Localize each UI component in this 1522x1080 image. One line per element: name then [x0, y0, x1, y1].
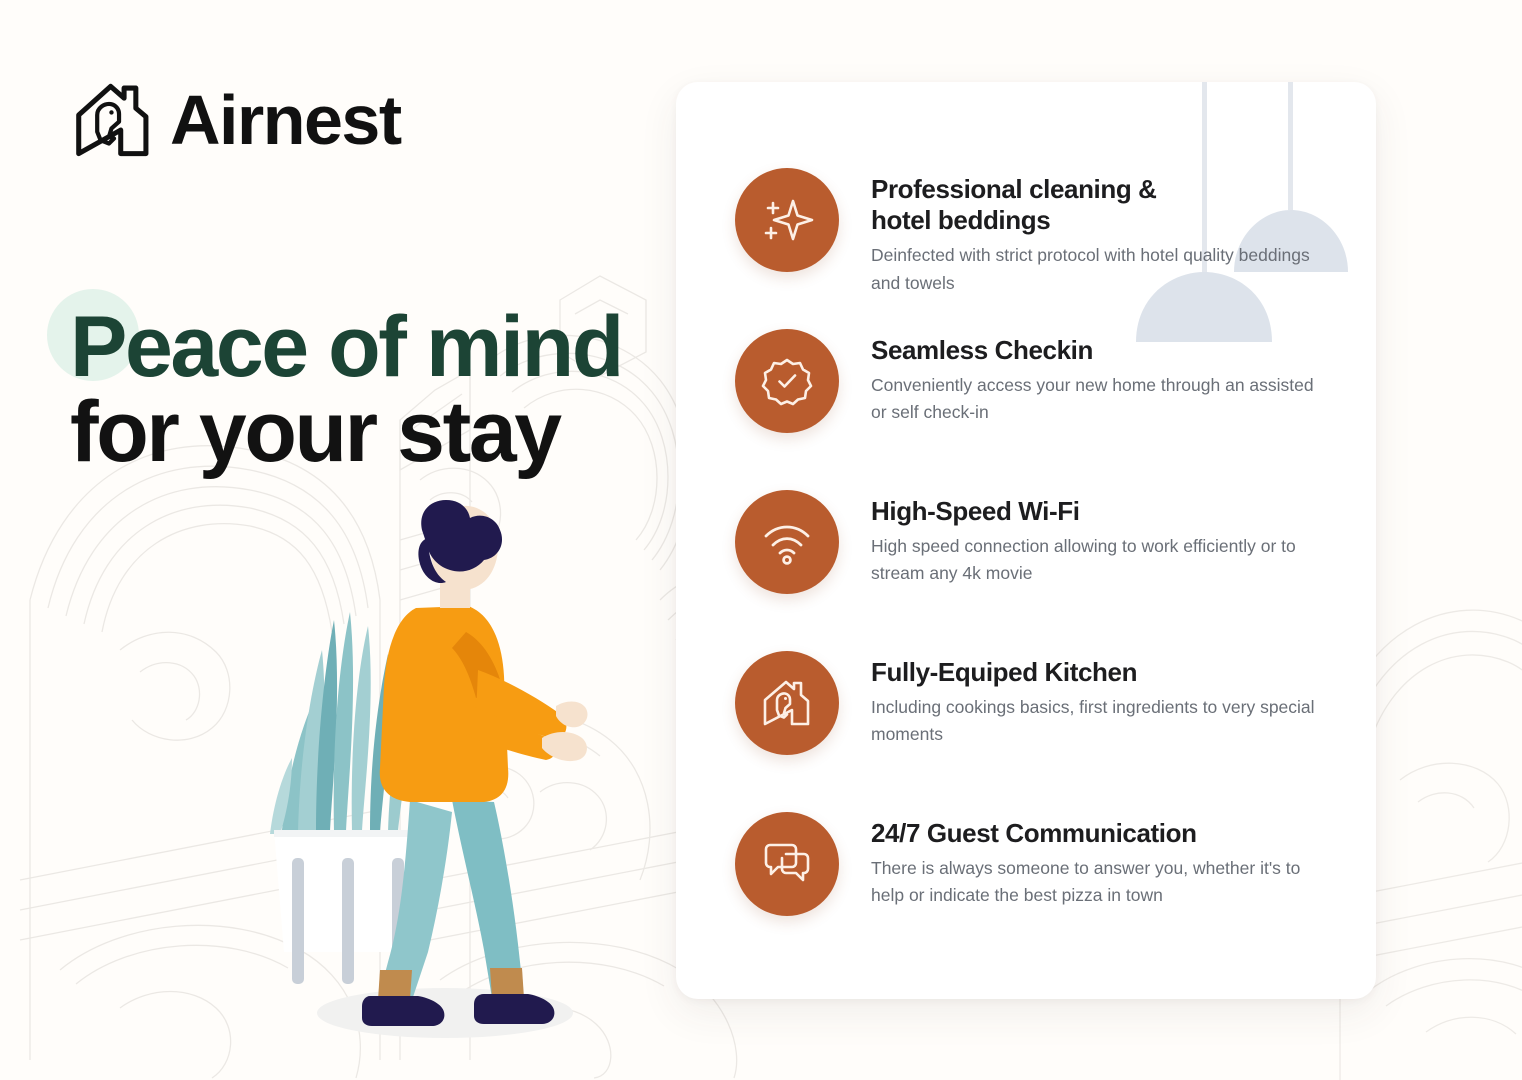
feature-title: High-Speed Wi-Fi: [871, 496, 1316, 527]
features-card: Professional cleaning & hotel beddings D…: [676, 82, 1376, 999]
sparkle-icon-badge: [735, 168, 839, 272]
feature-text: Professional cleaning & hotel beddings D…: [871, 168, 1316, 297]
house-bird-icon: [72, 78, 156, 162]
brand-logo[interactable]: Airnest: [72, 78, 401, 162]
verified-badge-icon: [760, 354, 814, 408]
feature-description: High speed connection allowing to work e…: [871, 533, 1316, 588]
feature-list: Professional cleaning & hotel beddings D…: [735, 168, 1335, 973]
feature-description: Deinfected with strict protocol with hot…: [871, 242, 1316, 297]
feature-title: Fully-Equiped Kitchen: [871, 657, 1316, 688]
verified-badge-icon-badge: [735, 329, 839, 433]
headline-line-2: for your stay: [70, 390, 622, 475]
feature-title: Professional cleaning & hotel beddings: [871, 174, 1316, 236]
person-figure: [362, 500, 587, 1026]
feature-text: Fully-Equiped Kitchen Including cookings…: [871, 651, 1316, 749]
page-title: Peace of mind for your stay: [70, 305, 622, 475]
feature-text: 24/7 Guest Communication There is always…: [871, 812, 1316, 910]
feature-description: There is always someone to answer you, w…: [871, 855, 1316, 910]
wifi-icon-badge: [735, 490, 839, 594]
feature-description: Conveniently access your new home throug…: [871, 372, 1316, 427]
chat-bubbles-icon: [760, 837, 814, 891]
feature-text: Seamless Checkin Conveniently access you…: [871, 329, 1316, 427]
sparkle-icon: [760, 193, 814, 247]
feature-text: High-Speed Wi-Fi High speed connection a…: [871, 490, 1316, 588]
brand-name: Airnest: [170, 85, 401, 155]
house-bird-icon: [760, 676, 814, 730]
woman-walking-illustration: [270, 500, 620, 1045]
house-bird-icon-badge: [735, 651, 839, 755]
feature-description: Including cookings basics, first ingredi…: [871, 694, 1316, 749]
feature-title: Seamless Checkin: [871, 335, 1316, 366]
feature-item-cleaning[interactable]: Professional cleaning & hotel beddings D…: [735, 168, 1335, 329]
feature-item-wifi[interactable]: High-Speed Wi-Fi High speed connection a…: [735, 490, 1335, 651]
feature-item-kitchen[interactable]: Fully-Equiped Kitchen Including cookings…: [735, 651, 1335, 812]
feature-item-checkin[interactable]: Seamless Checkin Conveniently access you…: [735, 329, 1335, 490]
headline-line-1: Peace of mind: [70, 305, 622, 390]
promo-page: Airnest Peace of mind for your stay: [0, 0, 1522, 1080]
feature-item-communication[interactable]: 24/7 Guest Communication There is always…: [735, 812, 1335, 973]
chat-bubbles-icon-badge: [735, 812, 839, 916]
feature-title: 24/7 Guest Communication: [871, 818, 1316, 849]
wifi-icon: [760, 515, 814, 569]
